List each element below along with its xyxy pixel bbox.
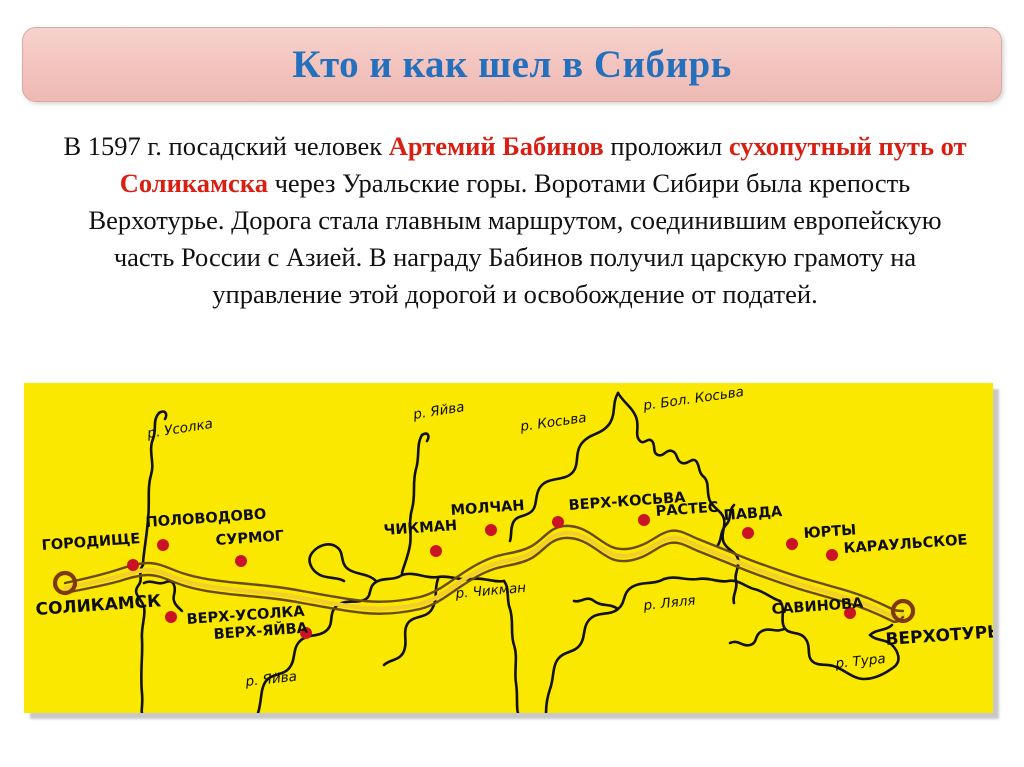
- body-text-run: В 1597 г. посадский человек: [63, 131, 388, 161]
- city-dot-караульское: [826, 549, 838, 561]
- city-dot-верх-усолка: [165, 611, 177, 623]
- river-label-р-тура: р. Тура: [834, 651, 887, 672]
- city-dot-сурмог: [235, 555, 247, 567]
- slide-title-banner: Кто и как шел в Сибирь: [22, 27, 1002, 102]
- city-label-растес: РАСТЕС: [655, 500, 719, 520]
- river-label-р-яйва: р. Яйва: [411, 399, 465, 423]
- river-lyalya-branch-path: [574, 599, 618, 609]
- river-yayva-upper-path: [402, 435, 422, 573]
- river-usolka-source: [159, 412, 166, 419]
- city-dot-молчан: [485, 524, 497, 536]
- map-canvas: ГОРОДИЩЕПОЛОВОДОВОСУРМОГВЕРХ-УСОЛКАВЕРХ-…: [24, 383, 993, 713]
- city-label-молчан: МОЛЧАН: [450, 498, 525, 519]
- city-dot-верх-косьва: [552, 516, 564, 528]
- city-dot-половодово: [157, 539, 169, 551]
- body-text-run: проложил: [604, 131, 729, 161]
- slide-body-text: В 1597 г. посадский человек Артемий Баби…: [60, 128, 970, 313]
- river-chikman-loop-path: [384, 579, 438, 665]
- city-label-павда: ПАВДА: [723, 504, 783, 524]
- city-dot-городище: [127, 559, 139, 571]
- city-label-половодово: ПОЛОВОДОВО: [145, 507, 267, 531]
- river-label-р-косьва: р. Косьва: [518, 410, 587, 435]
- city-dot-чикман: [430, 545, 442, 557]
- city-label-караульское: КАРАУЛЬСКОЕ: [843, 532, 968, 557]
- river-yayva-source: [422, 434, 428, 441]
- city-dot-растес: [638, 514, 650, 526]
- river-label-р-ляля: р. Ляля: [642, 593, 697, 614]
- river-south-branch-path: [136, 565, 144, 713]
- terminus-label-соликамск: СОЛИКАМСК: [35, 591, 162, 620]
- city-label-сурмог: СУРМОГ: [215, 528, 284, 549]
- river-label-р-яйва: р. Яйва: [244, 669, 298, 690]
- city-label-юрты: ЮРТЫ: [803, 522, 857, 542]
- river-network: [136, 393, 898, 713]
- river-chikman-south-path: [504, 581, 518, 713]
- map-figure: ГОРОДИЩЕПОЛОВОДОВОСУРМОГВЕРХ-УСОЛКАВЕРХ-…: [24, 383, 993, 713]
- city-dot-павда: [742, 527, 754, 539]
- river-label-р-бол-косьва: р. Бол. Косьва: [641, 384, 745, 414]
- city-label-городище: ГОРОДИЩЕ: [41, 531, 141, 554]
- city-label-чикман: ЧИКМАН: [383, 518, 457, 539]
- page-title: Кто и как шел в Сибирь: [292, 45, 732, 84]
- river-yayva-loop-path: [310, 544, 376, 581]
- city-dot-юрты: [786, 538, 798, 550]
- river-tura-west-path: [730, 629, 784, 645]
- terminus-label-верхотурье: ВЕРХОТУРЬЕ: [885, 621, 993, 650]
- body-highlight-run: Артемий Бабинов: [389, 131, 604, 161]
